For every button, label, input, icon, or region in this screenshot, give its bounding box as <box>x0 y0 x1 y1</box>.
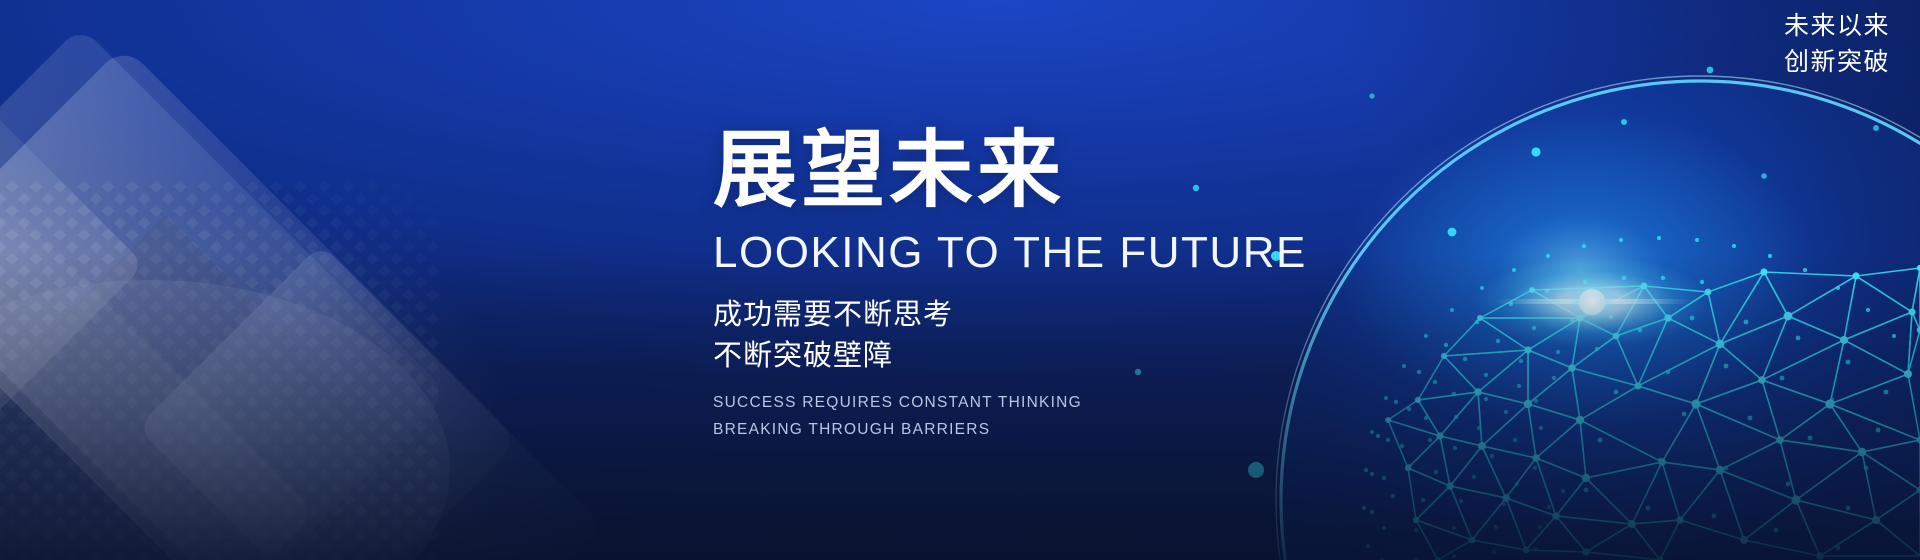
tagline-cn: 成功需要不断思考 不断突破壁障 <box>713 294 1473 376</box>
tagline-cn-line-1: 成功需要不断思考 <box>713 294 1473 335</box>
tagline-cn-line-2: 不断突破壁障 <box>713 335 1473 376</box>
corner-slogan: 未来以来 创新突破 <box>1784 8 1890 79</box>
page-subtitle-en: LOOKING TO THE FUTURE <box>713 230 1473 276</box>
page-title: 展望未来 <box>713 128 1473 212</box>
headline-block: 展望未来 LOOKING TO THE FUTURE 成功需要不断思考 不断突破… <box>713 128 1473 443</box>
tagline-en-line-2: BREAKING THROUGH BARRIERS <box>713 416 1473 443</box>
corner-slogan-line-1: 未来以来 <box>1784 8 1890 44</box>
corner-slogan-line-2: 创新突破 <box>1784 44 1890 80</box>
tagline-en: SUCCESS REQUIRES CONSTANT THINKING BREAK… <box>713 389 1473 443</box>
banner-root: 展望未来 LOOKING TO THE FUTURE 成功需要不断思考 不断突破… <box>0 0 1920 560</box>
tagline-en-line-1: SUCCESS REQUIRES CONSTANT THINKING <box>713 389 1473 416</box>
